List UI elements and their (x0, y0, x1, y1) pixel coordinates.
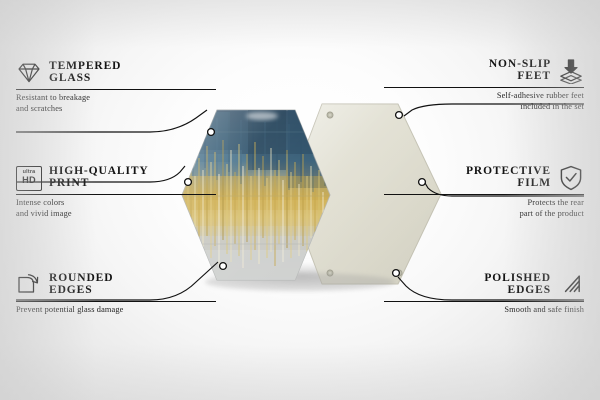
feature-description: Resistant to breakage and scratches (16, 93, 216, 115)
rounded-corner-icon (16, 272, 42, 298)
diamond-icon (16, 60, 42, 86)
feature-tempered-glass: TEMPERED GLASS Resistant to breakage and… (16, 60, 216, 115)
feature-title: TEMPERED GLASS (49, 61, 121, 84)
feature-high-quality-print: ultra HD HIGH-QUALITY PRINT Intense colo… (16, 165, 216, 220)
desc-line-1: Prevent potential glass damage (16, 305, 216, 316)
feature-title: HIGH-QUALITY PRINT (49, 166, 149, 189)
title-line-2: FILM (517, 178, 551, 190)
title-line-2: GLASS (49, 73, 91, 85)
divider (16, 89, 216, 90)
feature-rounded-edges: ROUNDED EDGES Prevent potential glass da… (16, 272, 216, 316)
desc-line-1: Intense colors (16, 198, 216, 209)
desc-line-2: included in the set (384, 102, 584, 113)
divider (16, 301, 216, 302)
divider (384, 301, 584, 302)
divider (384, 87, 584, 88)
divider (16, 194, 216, 195)
feature-title: PROTECTIVE FILM (466, 166, 551, 189)
title-line-2: PRINT (49, 178, 89, 190)
press-pad-icon (558, 58, 584, 84)
ultra-hd-icon: ultra HD (16, 165, 42, 191)
desc-line-2: and vivid image (16, 209, 216, 220)
infographic-canvas: TEMPERED GLASS Resistant to breakage and… (0, 0, 600, 400)
desc-line-1: Smooth and safe finish (384, 305, 584, 316)
title-line-2: FEET (517, 71, 551, 83)
feature-polished-edges: POLISHED EDGES Smooth and safe finish (384, 272, 584, 316)
feature-description: Smooth and safe finish (384, 305, 584, 316)
divider (384, 194, 584, 195)
title-line-2: EDGES (508, 285, 552, 297)
hd-label: HD (22, 176, 36, 185)
shield-check-icon (558, 165, 584, 191)
feature-description: Self-adhesive rubber feet included in th… (384, 91, 584, 113)
hatched-triangle-icon (558, 272, 584, 298)
desc-line-1: Protects the rear (384, 198, 584, 209)
feature-title: ROUNDED EDGES (49, 273, 113, 296)
feature-protective-film: PROTECTIVE FILM Protects the rear part o… (384, 165, 584, 220)
feature-title: NON-SLIP FEET (489, 59, 551, 82)
desc-line-1: Self-adhesive rubber feet (384, 91, 584, 102)
feature-description: Intense colors and vivid image (16, 198, 216, 220)
desc-line-1: Resistant to breakage (16, 93, 216, 104)
title-line-2: EDGES (49, 285, 93, 297)
desc-line-2: part of the product (384, 209, 584, 220)
feature-title: POLISHED EDGES (484, 273, 551, 296)
feature-non-slip-feet: NON-SLIP FEET Self-adhesive rubber feet … (384, 58, 584, 113)
desc-line-2: and scratches (16, 104, 216, 115)
feature-description: Protects the rear part of the product (384, 198, 584, 220)
feature-description: Prevent potential glass damage (16, 305, 216, 316)
